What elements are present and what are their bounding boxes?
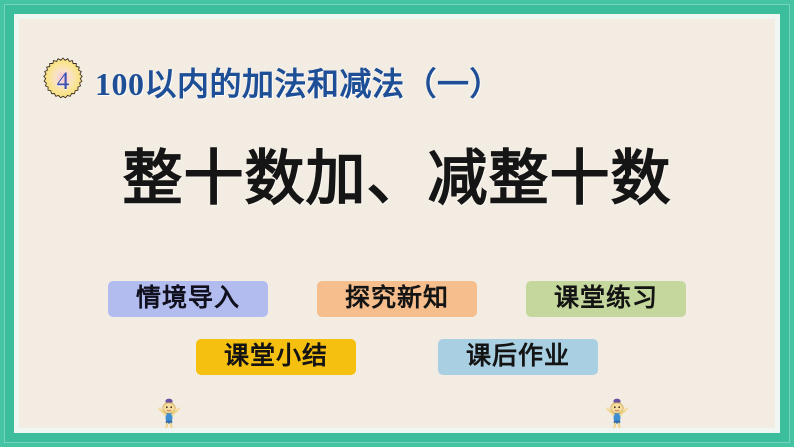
page-title: 整十数加、减整十数: [19, 149, 775, 209]
nav-button-class-summary[interactable]: 课堂小结: [196, 339, 356, 375]
chapter-header: 4 100以内的加法和减法（一）: [37, 56, 502, 108]
nav-row-secondary: 课堂小结 课后作业: [19, 339, 775, 375]
slide-frame-inner: 4 100以内的加法和减法（一） 整十数加、减整十数 情境导入 探究新知 课堂练…: [14, 14, 780, 433]
nav-button-class-practice[interactable]: 课堂练习: [526, 281, 686, 317]
cheering-child-icon-right: [604, 397, 630, 431]
chapter-title: 100以内的加法和减法（一）: [95, 59, 502, 105]
chapter-badge-number: 4: [57, 69, 70, 96]
cheering-child-icon-left: [156, 397, 182, 431]
chapter-badge: 4: [37, 56, 89, 108]
nav-row-primary: 情境导入 探究新知 课堂练习: [19, 281, 775, 317]
nav-button-situation-intro[interactable]: 情境导入: [108, 281, 268, 317]
nav-button-homework[interactable]: 课后作业: [438, 339, 598, 375]
nav-button-explore-new[interactable]: 探究新知: [317, 281, 477, 317]
slide-canvas: 4 100以内的加法和减法（一） 整十数加、减整十数 情境导入 探究新知 课堂练…: [19, 19, 775, 428]
slide-frame-outer: 4 100以内的加法和减法（一） 整十数加、减整十数 情境导入 探究新知 课堂练…: [4, 4, 790, 443]
slide: 4 100以内的加法和减法（一） 整十数加、减整十数 情境导入 探究新知 课堂练…: [0, 0, 794, 447]
